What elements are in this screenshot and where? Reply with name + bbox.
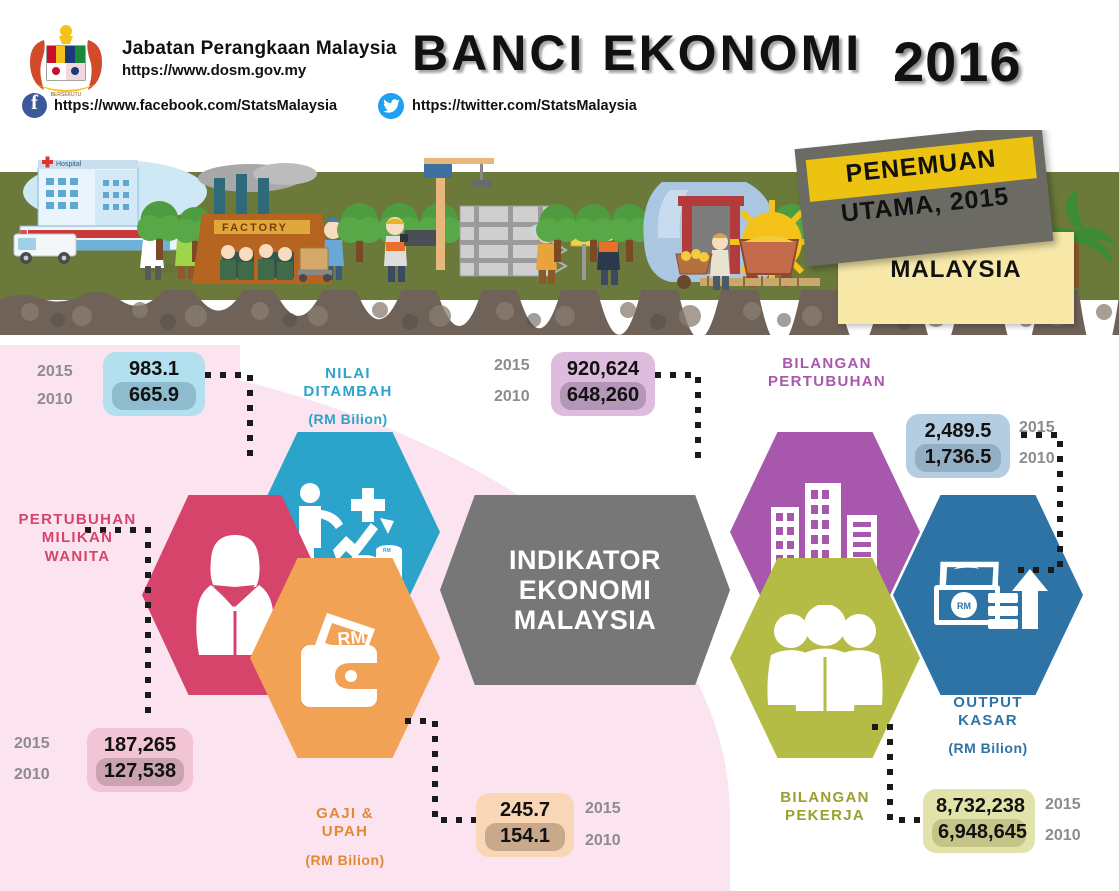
wanita-title-1: PERTUBUHAN <box>0 511 155 529</box>
gaji-value-2010: 154.1 <box>485 823 565 851</box>
page-header: BERSEKUTU Jabatan Perangkaan Malaysia ht… <box>0 0 1119 130</box>
output-value-2015: 2,489.5 <box>915 419 1001 443</box>
wanita-title-3: WANITA <box>0 548 155 566</box>
value-card-bilangan-pekerja: 8,732,238 6,948,645 <box>923 789 1035 853</box>
output-value-2010: 1,736.5 <box>915 444 1001 472</box>
facebook-link[interactable]: https://www.facebook.com/StatsMalaysia <box>22 93 337 118</box>
nilai-unit: (RM Bilion) <box>278 411 418 428</box>
gaji-unit: (RM Bilion) <box>270 852 420 869</box>
year-2015-pertubuhan: 2015 <box>494 357 530 375</box>
svg-text:FACTORY: FACTORY <box>222 222 288 234</box>
output-unit: (RM Bilion) <box>908 740 1068 757</box>
output-title-1: OUTPUT <box>908 694 1068 712</box>
pekerja-value-2015: 8,732,238 <box>932 794 1026 818</box>
year-2010-wanita: 2010 <box>14 766 50 784</box>
facebook-icon <box>22 93 47 118</box>
main-title: BANCI EKONOMI <box>412 24 862 82</box>
label-pertubuhan-milikan-wanita: PERTUBUHAN MILIKAN WANITA <box>0 511 155 566</box>
year-2010-output: 2010 <box>1019 450 1055 468</box>
year-2010-gaji: 2010 <box>585 832 621 850</box>
wanita-value-2010: 127,538 <box>96 758 184 786</box>
year-2015-pekerja: 2015 <box>1045 796 1081 814</box>
main-title-year: 2016 <box>893 29 1022 94</box>
pekerja-value-2010: 6,948,645 <box>932 819 1026 847</box>
nilai-title-2: DITAMBAH <box>278 383 418 401</box>
nilai-value-2015: 983.1 <box>112 357 196 381</box>
svg-text:Hospital: Hospital <box>56 161 82 168</box>
nilai-value-2010: 665.9 <box>112 382 196 410</box>
facebook-url-text[interactable]: https://www.facebook.com/StatsMalaysia <box>54 98 337 114</box>
wanita-value-2015: 187,265 <box>96 733 184 757</box>
department-name: Jabatan Perangkaan Malaysia <box>122 38 397 60</box>
note-label: MALAYSIA <box>838 256 1074 284</box>
value-card-bilangan-pertubuhan: 920,624 648,260 <box>551 352 655 416</box>
infographic-canvas: Hospital <box>0 0 1119 891</box>
label-bilangan-pekerja: BILANGAN PEKERJA <box>740 789 910 826</box>
label-output-kasar: OUTPUT KASAR (RM Bilion) <box>908 694 1068 757</box>
year-2010-pekerja: 2010 <box>1045 827 1081 845</box>
twitter-link[interactable]: https://twitter.com/StatsMalaysia <box>378 93 637 119</box>
pertubuhan-value-2010: 648,260 <box>560 382 646 410</box>
year-2010-nilai: 2010 <box>37 391 73 409</box>
label-gaji-upah: GAJI & UPAH (RM Bilion) <box>270 805 420 869</box>
connector-pertubuhan <box>655 375 698 460</box>
gaji-title-1: GAJI & <box>270 805 420 823</box>
pekerja-title-1: BILANGAN <box>740 789 910 807</box>
twitter-icon <box>378 93 404 119</box>
department-url[interactable]: https://www.dosm.gov.my <box>122 62 306 79</box>
pertubuhan-title-1: BILANGAN <box>742 355 912 373</box>
value-card-nilai-ditambah: 983.1 665.9 <box>103 352 205 416</box>
gaji-value-2015: 245.7 <box>485 798 565 822</box>
wanita-title-2: MILIKAN <box>0 529 155 547</box>
year-2015-nilai: 2015 <box>37 363 73 381</box>
value-card-pertubuhan-wanita: 187,265 127,538 <box>87 728 193 792</box>
year-2015-gaji: 2015 <box>585 800 621 818</box>
pertubuhan-value-2015: 920,624 <box>560 357 646 381</box>
value-card-gaji-upah: 245.7 154.1 <box>476 793 574 857</box>
twitter-url-text[interactable]: https://twitter.com/StatsMalaysia <box>412 98 637 114</box>
year-2015-wanita: 2015 <box>14 735 50 753</box>
pekerja-title-2: PEKERJA <box>740 807 910 825</box>
value-card-output-kasar: 2,489.5 1,736.5 <box>906 414 1010 478</box>
label-bilangan-pertubuhan: BILANGAN PERTUBUHAN <box>742 355 912 392</box>
gaji-title-2: UPAH <box>270 823 420 841</box>
year-2010-pertubuhan: 2010 <box>494 388 530 406</box>
label-nilai-ditambah: NILAI DITAMBAH (RM Bilion) <box>278 365 418 428</box>
pertubuhan-title-2: PERTUBUHAN <box>742 373 912 391</box>
nilai-title-1: NILAI <box>278 365 418 383</box>
output-title-2: KASAR <box>908 712 1068 730</box>
mine-entrance <box>643 182 820 288</box>
year-2015-output: 2015 <box>1019 419 1055 437</box>
connector-nilai <box>205 375 250 460</box>
